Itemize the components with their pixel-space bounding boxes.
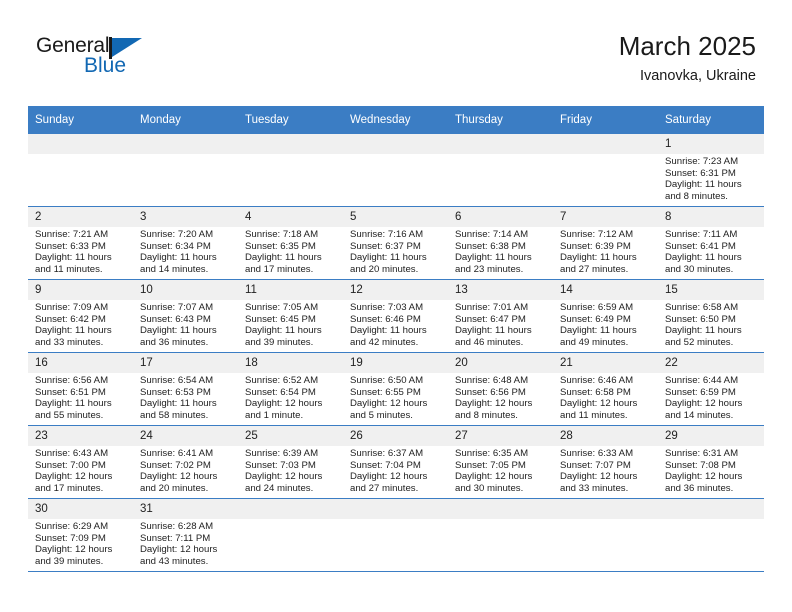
day-sunset-text: Sunset: 7:07 PM xyxy=(560,460,654,472)
day-details: Sunrise: 7:09 AMSunset: 6:42 PMDaylight:… xyxy=(28,300,133,348)
day-number: 13 xyxy=(448,280,553,300)
calendar-day-cell[interactable]: 2Sunrise: 7:21 AMSunset: 6:33 PMDaylight… xyxy=(28,207,133,280)
day-sunrise-text: Sunrise: 7:05 AM xyxy=(245,302,339,314)
weekday-header-tuesday: Tuesday xyxy=(238,106,343,134)
calendar-day-cell[interactable]: 25Sunrise: 6:39 AMSunset: 7:03 PMDayligh… xyxy=(238,426,343,499)
day-details: Sunrise: 6:37 AMSunset: 7:04 PMDaylight:… xyxy=(343,446,448,494)
day-details: Sunrise: 6:35 AMSunset: 7:05 PMDaylight:… xyxy=(448,446,553,494)
day-sunrise-text: Sunrise: 7:20 AM xyxy=(140,229,234,241)
day-number xyxy=(238,134,343,154)
day-details: Sunrise: 6:28 AMSunset: 7:11 PMDaylight:… xyxy=(133,519,238,567)
calendar-cell-inner: 15Sunrise: 6:58 AMSunset: 6:50 PMDayligh… xyxy=(658,280,764,352)
day-daylight-line-text: Daylight: 12 hours xyxy=(455,398,549,410)
day-sunset-text: Sunset: 7:00 PM xyxy=(35,460,129,472)
calendar-day-cell[interactable]: 13Sunrise: 7:01 AMSunset: 6:47 PMDayligh… xyxy=(448,280,553,353)
day-sunrise-text: Sunrise: 6:33 AM xyxy=(560,448,654,460)
calendar-day-cell[interactable]: 21Sunrise: 6:46 AMSunset: 6:58 PMDayligh… xyxy=(553,353,658,426)
day-sunrise-text: Sunrise: 6:39 AM xyxy=(245,448,339,460)
day-number: 28 xyxy=(553,426,658,446)
day-details: Sunrise: 6:56 AMSunset: 6:51 PMDaylight:… xyxy=(28,373,133,421)
day-number: 16 xyxy=(28,353,133,373)
day-sunset-text: Sunset: 7:11 PM xyxy=(140,533,234,545)
day-sunrise-text: Sunrise: 6:43 AM xyxy=(35,448,129,460)
weekday-header-sunday: Sunday xyxy=(28,106,133,134)
calendar-cell-inner: 12Sunrise: 7:03 AMSunset: 6:46 PMDayligh… xyxy=(343,280,448,352)
day-daylight-line-text: Daylight: 12 hours xyxy=(560,471,654,483)
day-daylight-line-text: Daylight: 11 hours xyxy=(350,252,444,264)
calendar-cell-inner: 4Sunrise: 7:18 AMSunset: 6:35 PMDaylight… xyxy=(238,207,343,279)
day-number: 27 xyxy=(448,426,553,446)
calendar-cell-inner: 19Sunrise: 6:50 AMSunset: 6:55 PMDayligh… xyxy=(343,353,448,425)
day-number xyxy=(448,134,553,154)
day-sunset-text: Sunset: 7:02 PM xyxy=(140,460,234,472)
day-number: 26 xyxy=(343,426,448,446)
day-number: 5 xyxy=(343,207,448,227)
calendar-day-cell[interactable]: 19Sunrise: 6:50 AMSunset: 6:55 PMDayligh… xyxy=(343,353,448,426)
day-sunset-text: Sunset: 7:03 PM xyxy=(245,460,339,472)
day-sunset-text: Sunset: 6:35 PM xyxy=(245,241,339,253)
day-sunset-text: Sunset: 6:31 PM xyxy=(665,168,760,180)
day-daylight-line-text: Daylight: 11 hours xyxy=(560,252,654,264)
day-daylight-line-text: and 17 minutes. xyxy=(35,483,129,495)
calendar-day-cell[interactable]: 3Sunrise: 7:20 AMSunset: 6:34 PMDaylight… xyxy=(133,207,238,280)
calendar-day-cell[interactable]: 14Sunrise: 6:59 AMSunset: 6:49 PMDayligh… xyxy=(553,280,658,353)
day-sunrise-text: Sunrise: 7:18 AM xyxy=(245,229,339,241)
calendar-table: Sunday Monday Tuesday Wednesday Thursday… xyxy=(28,106,764,572)
day-daylight-line-text: and 27 minutes. xyxy=(350,483,444,495)
weekday-header-thursday: Thursday xyxy=(448,106,553,134)
day-daylight-line-text: and 43 minutes. xyxy=(140,556,234,568)
day-sunset-text: Sunset: 6:38 PM xyxy=(455,241,549,253)
day-sunrise-text: Sunrise: 7:12 AM xyxy=(560,229,654,241)
calendar-cell-inner: 16Sunrise: 6:56 AMSunset: 6:51 PMDayligh… xyxy=(28,353,133,425)
day-details: Sunrise: 6:41 AMSunset: 7:02 PMDaylight:… xyxy=(133,446,238,494)
day-details: Sunrise: 6:43 AMSunset: 7:00 PMDaylight:… xyxy=(28,446,133,494)
day-daylight-line-text: and 8 minutes. xyxy=(455,410,549,422)
calendar-cell-empty xyxy=(133,134,238,207)
day-daylight-line-text: Daylight: 11 hours xyxy=(665,179,760,191)
calendar-cell-inner: 10Sunrise: 7:07 AMSunset: 6:43 PMDayligh… xyxy=(133,280,238,352)
page-subtitle: Ivanovka, Ukraine xyxy=(619,65,756,87)
calendar-day-cell[interactable]: 9Sunrise: 7:09 AMSunset: 6:42 PMDaylight… xyxy=(28,280,133,353)
day-daylight-line-text: and 58 minutes. xyxy=(140,410,234,422)
calendar-cell-empty xyxy=(343,134,448,207)
day-sunrise-text: Sunrise: 7:07 AM xyxy=(140,302,234,314)
calendar-cell-inner xyxy=(238,499,343,571)
calendar-cell-inner: 30Sunrise: 6:29 AMSunset: 7:09 PMDayligh… xyxy=(28,499,133,571)
day-daylight-line-text: Daylight: 12 hours xyxy=(140,544,234,556)
day-daylight-line-text: and 46 minutes. xyxy=(455,337,549,349)
calendar-cell-empty xyxy=(238,134,343,207)
day-number: 4 xyxy=(238,207,343,227)
calendar-cell-inner: 1Sunrise: 7:23 AMSunset: 6:31 PMDaylight… xyxy=(658,134,764,206)
day-details: Sunrise: 6:46 AMSunset: 6:58 PMDaylight:… xyxy=(553,373,658,421)
calendar-cell-inner: 31Sunrise: 6:28 AMSunset: 7:11 PMDayligh… xyxy=(133,499,238,571)
day-details: Sunrise: 6:39 AMSunset: 7:03 PMDaylight:… xyxy=(238,446,343,494)
calendar-cell-empty xyxy=(448,134,553,207)
day-daylight-line-text: Daylight: 12 hours xyxy=(560,398,654,410)
calendar-cell-inner: 25Sunrise: 6:39 AMSunset: 7:03 PMDayligh… xyxy=(238,426,343,498)
logo-text-blue: Blue xyxy=(84,54,126,78)
day-number: 29 xyxy=(658,426,764,446)
day-number: 1 xyxy=(658,134,764,154)
calendar-week-row: 30Sunrise: 6:29 AMSunset: 7:09 PMDayligh… xyxy=(28,499,764,572)
calendar-cell-inner: 28Sunrise: 6:33 AMSunset: 7:07 PMDayligh… xyxy=(553,426,658,498)
calendar-day-cell[interactable]: 6Sunrise: 7:14 AMSunset: 6:38 PMDaylight… xyxy=(448,207,553,280)
day-sunset-text: Sunset: 6:37 PM xyxy=(350,241,444,253)
day-sunrise-text: Sunrise: 6:46 AM xyxy=(560,375,654,387)
calendar-day-cell[interactable]: 23Sunrise: 6:43 AMSunset: 7:00 PMDayligh… xyxy=(28,426,133,499)
day-daylight-line-text: and 52 minutes. xyxy=(665,337,760,349)
day-sunrise-text: Sunrise: 6:29 AM xyxy=(35,521,129,533)
calendar-week-row: 9Sunrise: 7:09 AMSunset: 6:42 PMDaylight… xyxy=(28,280,764,353)
day-sunset-text: Sunset: 6:50 PM xyxy=(665,314,760,326)
day-sunrise-text: Sunrise: 6:52 AM xyxy=(245,375,339,387)
calendar-day-cell[interactable]: 8Sunrise: 7:11 AMSunset: 6:41 PMDaylight… xyxy=(658,207,764,280)
day-daylight-line-text: Daylight: 12 hours xyxy=(245,471,339,483)
day-number xyxy=(343,134,448,154)
day-daylight-line-text: and 27 minutes. xyxy=(560,264,654,276)
day-daylight-line-text: and 36 minutes. xyxy=(140,337,234,349)
day-daylight-line-text: and 20 minutes. xyxy=(140,483,234,495)
calendar-day-cell[interactable]: 12Sunrise: 7:03 AMSunset: 6:46 PMDayligh… xyxy=(343,280,448,353)
day-daylight-line-text: and 8 minutes. xyxy=(665,191,760,203)
day-sunset-text: Sunset: 6:59 PM xyxy=(665,387,760,399)
day-number: 22 xyxy=(658,353,764,373)
calendar-cell-inner: 20Sunrise: 6:48 AMSunset: 6:56 PMDayligh… xyxy=(448,353,553,425)
calendar-cell-empty xyxy=(553,134,658,207)
calendar-cell-empty xyxy=(553,499,658,572)
calendar-cell-empty xyxy=(448,499,553,572)
calendar-cell-inner: 14Sunrise: 6:59 AMSunset: 6:49 PMDayligh… xyxy=(553,280,658,352)
day-details: Sunrise: 6:50 AMSunset: 6:55 PMDaylight:… xyxy=(343,373,448,421)
day-daylight-line-text: Daylight: 11 hours xyxy=(140,252,234,264)
day-sunset-text: Sunset: 6:45 PM xyxy=(245,314,339,326)
weekday-header-monday: Monday xyxy=(133,106,238,134)
general-blue-logo[interactable]: General Blue xyxy=(36,34,236,90)
day-daylight-line-text: and 33 minutes. xyxy=(35,337,129,349)
day-daylight-line-text: Daylight: 11 hours xyxy=(35,252,129,264)
day-sunrise-text: Sunrise: 7:09 AM xyxy=(35,302,129,314)
day-daylight-line-text: and 36 minutes. xyxy=(665,483,760,495)
day-sunset-text: Sunset: 6:54 PM xyxy=(245,387,339,399)
calendar-week-row: 23Sunrise: 6:43 AMSunset: 7:00 PMDayligh… xyxy=(28,426,764,499)
day-daylight-line-text: and 1 minute. xyxy=(245,410,339,422)
day-daylight-line-text: Daylight: 12 hours xyxy=(665,471,760,483)
day-number: 7 xyxy=(553,207,658,227)
calendar-cell-inner xyxy=(133,134,238,206)
day-number: 25 xyxy=(238,426,343,446)
day-sunrise-text: Sunrise: 7:16 AM xyxy=(350,229,444,241)
day-sunset-text: Sunset: 6:49 PM xyxy=(560,314,654,326)
calendar-cell-inner: 9Sunrise: 7:09 AMSunset: 6:42 PMDaylight… xyxy=(28,280,133,352)
day-number: 3 xyxy=(133,207,238,227)
day-sunset-text: Sunset: 6:43 PM xyxy=(140,314,234,326)
day-details: Sunrise: 6:33 AMSunset: 7:07 PMDaylight:… xyxy=(553,446,658,494)
day-sunset-text: Sunset: 6:46 PM xyxy=(350,314,444,326)
day-daylight-line-text: and 39 minutes. xyxy=(35,556,129,568)
day-details: Sunrise: 6:48 AMSunset: 6:56 PMDaylight:… xyxy=(448,373,553,421)
day-details: Sunrise: 7:18 AMSunset: 6:35 PMDaylight:… xyxy=(238,227,343,275)
calendar-cell-inner: 2Sunrise: 7:21 AMSunset: 6:33 PMDaylight… xyxy=(28,207,133,279)
calendar-cell-inner: 21Sunrise: 6:46 AMSunset: 6:58 PMDayligh… xyxy=(553,353,658,425)
day-daylight-line-text: and 14 minutes. xyxy=(665,410,760,422)
day-daylight-line-text: and 33 minutes. xyxy=(560,483,654,495)
calendar-cell-empty xyxy=(658,499,764,572)
day-sunset-text: Sunset: 6:34 PM xyxy=(140,241,234,253)
day-sunrise-text: Sunrise: 6:37 AM xyxy=(350,448,444,460)
day-sunrise-text: Sunrise: 6:41 AM xyxy=(140,448,234,460)
day-sunset-text: Sunset: 6:33 PM xyxy=(35,241,129,253)
calendar-day-cell[interactable]: 27Sunrise: 6:35 AMSunset: 7:05 PMDayligh… xyxy=(448,426,553,499)
day-daylight-line-text: Daylight: 11 hours xyxy=(455,252,549,264)
day-number xyxy=(28,134,133,154)
day-daylight-line-text: and 24 minutes. xyxy=(245,483,339,495)
day-number: 17 xyxy=(133,353,238,373)
calendar-day-cell[interactable]: 28Sunrise: 6:33 AMSunset: 7:07 PMDayligh… xyxy=(553,426,658,499)
day-sunset-text: Sunset: 6:58 PM xyxy=(560,387,654,399)
day-daylight-line-text: Daylight: 12 hours xyxy=(245,398,339,410)
day-number xyxy=(343,499,448,519)
day-daylight-line-text: and 11 minutes. xyxy=(35,264,129,276)
day-daylight-line-text: and 17 minutes. xyxy=(245,264,339,276)
calendar-day-cell[interactable]: 29Sunrise: 6:31 AMSunset: 7:08 PMDayligh… xyxy=(658,426,764,499)
day-number: 18 xyxy=(238,353,343,373)
day-daylight-line-text: Daylight: 12 hours xyxy=(35,544,129,556)
day-sunset-text: Sunset: 6:47 PM xyxy=(455,314,549,326)
calendar-day-cell[interactable]: 17Sunrise: 6:54 AMSunset: 6:53 PMDayligh… xyxy=(133,353,238,426)
day-number: 6 xyxy=(448,207,553,227)
weekday-header-friday: Friday xyxy=(553,106,658,134)
day-number: 14 xyxy=(553,280,658,300)
day-sunrise-text: Sunrise: 6:48 AM xyxy=(455,375,549,387)
day-details: Sunrise: 7:03 AMSunset: 6:46 PMDaylight:… xyxy=(343,300,448,348)
calendar-cell-inner: 22Sunrise: 6:44 AMSunset: 6:59 PMDayligh… xyxy=(658,353,764,425)
calendar-cell-empty xyxy=(28,134,133,207)
day-daylight-line-text: and 49 minutes. xyxy=(560,337,654,349)
calendar-day-cell[interactable]: 24Sunrise: 6:41 AMSunset: 7:02 PMDayligh… xyxy=(133,426,238,499)
calendar-cell-inner: 11Sunrise: 7:05 AMSunset: 6:45 PMDayligh… xyxy=(238,280,343,352)
day-number: 10 xyxy=(133,280,238,300)
day-sunset-text: Sunset: 6:53 PM xyxy=(140,387,234,399)
day-sunrise-text: Sunrise: 7:11 AM xyxy=(665,229,760,241)
day-sunrise-text: Sunrise: 6:28 AM xyxy=(140,521,234,533)
weekday-header-wednesday: Wednesday xyxy=(343,106,448,134)
day-sunrise-text: Sunrise: 7:03 AM xyxy=(350,302,444,314)
day-number: 21 xyxy=(553,353,658,373)
calendar-week-row: 2Sunrise: 7:21 AMSunset: 6:33 PMDaylight… xyxy=(28,207,764,280)
day-daylight-line-text: Daylight: 11 hours xyxy=(140,398,234,410)
day-details: Sunrise: 6:54 AMSunset: 6:53 PMDaylight:… xyxy=(133,373,238,421)
day-daylight-line-text: Daylight: 11 hours xyxy=(35,398,129,410)
calendar-cell-inner xyxy=(658,499,764,571)
day-daylight-line-text: and 42 minutes. xyxy=(350,337,444,349)
calendar-week-row: 16Sunrise: 6:56 AMSunset: 6:51 PMDayligh… xyxy=(28,353,764,426)
day-sunrise-text: Sunrise: 6:58 AM xyxy=(665,302,760,314)
day-sunrise-text: Sunrise: 6:56 AM xyxy=(35,375,129,387)
day-details: Sunrise: 7:07 AMSunset: 6:43 PMDaylight:… xyxy=(133,300,238,348)
day-number: 9 xyxy=(28,280,133,300)
calendar-day-cell[interactable]: 31Sunrise: 6:28 AMSunset: 7:11 PMDayligh… xyxy=(133,499,238,572)
calendar-cell-inner xyxy=(343,499,448,571)
page-header: General Blue March 2025 Ivanovka, Ukrain… xyxy=(36,30,756,98)
day-daylight-line-text: and 20 minutes. xyxy=(350,264,444,276)
day-daylight-line-text: Daylight: 11 hours xyxy=(455,325,549,337)
day-sunset-text: Sunset: 7:04 PM xyxy=(350,460,444,472)
day-daylight-line-text: Daylight: 12 hours xyxy=(665,398,760,410)
day-details: Sunrise: 6:31 AMSunset: 7:08 PMDaylight:… xyxy=(658,446,764,494)
day-daylight-line-text: Daylight: 12 hours xyxy=(350,471,444,483)
day-daylight-line-text: and 30 minutes. xyxy=(455,483,549,495)
day-details: Sunrise: 7:16 AMSunset: 6:37 PMDaylight:… xyxy=(343,227,448,275)
day-number xyxy=(553,499,658,519)
day-details: Sunrise: 6:29 AMSunset: 7:09 PMDaylight:… xyxy=(28,519,133,567)
day-daylight-line-text: and 55 minutes. xyxy=(35,410,129,422)
calendar-cell-inner xyxy=(448,499,553,571)
calendar-cell-inner: 7Sunrise: 7:12 AMSunset: 6:39 PMDaylight… xyxy=(553,207,658,279)
day-sunrise-text: Sunrise: 6:31 AM xyxy=(665,448,760,460)
day-number xyxy=(448,499,553,519)
day-number: 12 xyxy=(343,280,448,300)
day-details: Sunrise: 6:52 AMSunset: 6:54 PMDaylight:… xyxy=(238,373,343,421)
calendar-day-cell[interactable]: 22Sunrise: 6:44 AMSunset: 6:59 PMDayligh… xyxy=(658,353,764,426)
day-number: 31 xyxy=(133,499,238,519)
title-block: March 2025 Ivanovka, Ukraine xyxy=(619,30,756,87)
calendar-cell-inner: 23Sunrise: 6:43 AMSunset: 7:00 PMDayligh… xyxy=(28,426,133,498)
calendar-cell-inner: 24Sunrise: 6:41 AMSunset: 7:02 PMDayligh… xyxy=(133,426,238,498)
day-sunrise-text: Sunrise: 6:44 AM xyxy=(665,375,760,387)
day-details: Sunrise: 7:11 AMSunset: 6:41 PMDaylight:… xyxy=(658,227,764,275)
day-details: Sunrise: 7:23 AMSunset: 6:31 PMDaylight:… xyxy=(658,154,764,202)
day-details: Sunrise: 7:05 AMSunset: 6:45 PMDaylight:… xyxy=(238,300,343,348)
day-details: Sunrise: 7:20 AMSunset: 6:34 PMDaylight:… xyxy=(133,227,238,275)
weekday-header-saturday: Saturday xyxy=(658,106,764,134)
day-number: 11 xyxy=(238,280,343,300)
day-details: Sunrise: 7:14 AMSunset: 6:38 PMDaylight:… xyxy=(448,227,553,275)
calendar-day-cell[interactable]: 1Sunrise: 7:23 AMSunset: 6:31 PMDaylight… xyxy=(658,134,764,207)
day-number xyxy=(133,134,238,154)
day-sunset-text: Sunset: 6:41 PM xyxy=(665,241,760,253)
day-sunrise-text: Sunrise: 6:50 AM xyxy=(350,375,444,387)
calendar-cell-inner xyxy=(343,134,448,206)
day-daylight-line-text: and 30 minutes. xyxy=(665,264,760,276)
calendar-day-cell[interactable]: 7Sunrise: 7:12 AMSunset: 6:39 PMDaylight… xyxy=(553,207,658,280)
day-details: Sunrise: 7:21 AMSunset: 6:33 PMDaylight:… xyxy=(28,227,133,275)
calendar-day-cell[interactable]: 20Sunrise: 6:48 AMSunset: 6:56 PMDayligh… xyxy=(448,353,553,426)
day-details: Sunrise: 6:58 AMSunset: 6:50 PMDaylight:… xyxy=(658,300,764,348)
calendar-cell-empty xyxy=(343,499,448,572)
day-number xyxy=(238,499,343,519)
day-number: 23 xyxy=(28,426,133,446)
day-daylight-line-text: Daylight: 12 hours xyxy=(140,471,234,483)
day-number: 19 xyxy=(343,353,448,373)
day-sunset-text: Sunset: 6:39 PM xyxy=(560,241,654,253)
day-number xyxy=(658,499,764,519)
day-daylight-line-text: Daylight: 12 hours xyxy=(35,471,129,483)
day-daylight-line-text: Daylight: 11 hours xyxy=(560,325,654,337)
day-number: 30 xyxy=(28,499,133,519)
day-sunrise-text: Sunrise: 7:21 AM xyxy=(35,229,129,241)
day-sunrise-text: Sunrise: 6:59 AM xyxy=(560,302,654,314)
day-daylight-line-text: and 39 minutes. xyxy=(245,337,339,349)
day-daylight-line-text: Daylight: 12 hours xyxy=(350,398,444,410)
calendar-week-row: 1Sunrise: 7:23 AMSunset: 6:31 PMDaylight… xyxy=(28,134,764,207)
calendar-day-cell[interactable]: 18Sunrise: 6:52 AMSunset: 6:54 PMDayligh… xyxy=(238,353,343,426)
day-sunset-text: Sunset: 7:09 PM xyxy=(35,533,129,545)
day-sunrise-text: Sunrise: 6:35 AM xyxy=(455,448,549,460)
calendar-cell-inner: 3Sunrise: 7:20 AMSunset: 6:34 PMDaylight… xyxy=(133,207,238,279)
day-daylight-line-text: Daylight: 11 hours xyxy=(245,325,339,337)
day-daylight-line-text: Daylight: 11 hours xyxy=(350,325,444,337)
day-sunset-text: Sunset: 6:56 PM xyxy=(455,387,549,399)
day-daylight-line-text: Daylight: 11 hours xyxy=(245,252,339,264)
calendar-day-cell[interactable]: 26Sunrise: 6:37 AMSunset: 7:04 PMDayligh… xyxy=(343,426,448,499)
weekday-header-row: Sunday Monday Tuesday Wednesday Thursday… xyxy=(28,106,764,134)
day-sunrise-text: Sunrise: 7:23 AM xyxy=(665,156,760,168)
page-title: March 2025 xyxy=(619,30,756,62)
calendar-page: General Blue March 2025 Ivanovka, Ukrain… xyxy=(0,0,792,612)
calendar-cell-inner xyxy=(28,134,133,206)
calendar-cell-inner: 26Sunrise: 6:37 AMSunset: 7:04 PMDayligh… xyxy=(343,426,448,498)
day-details: Sunrise: 7:01 AMSunset: 6:47 PMDaylight:… xyxy=(448,300,553,348)
calendar-cell-inner xyxy=(238,134,343,206)
calendar-day-cell[interactable]: 11Sunrise: 7:05 AMSunset: 6:45 PMDayligh… xyxy=(238,280,343,353)
calendar-cell-inner: 6Sunrise: 7:14 AMSunset: 6:38 PMDaylight… xyxy=(448,207,553,279)
day-daylight-line-text: and 11 minutes. xyxy=(560,410,654,422)
calendar-cell-inner xyxy=(553,499,658,571)
calendar-day-cell[interactable]: 5Sunrise: 7:16 AMSunset: 6:37 PMDaylight… xyxy=(343,207,448,280)
calendar-cell-inner: 5Sunrise: 7:16 AMSunset: 6:37 PMDaylight… xyxy=(343,207,448,279)
day-daylight-line-text: Daylight: 11 hours xyxy=(665,325,760,337)
day-sunset-text: Sunset: 6:51 PM xyxy=(35,387,129,399)
day-details: Sunrise: 6:59 AMSunset: 6:49 PMDaylight:… xyxy=(553,300,658,348)
calendar-day-cell[interactable]: 4Sunrise: 7:18 AMSunset: 6:35 PMDaylight… xyxy=(238,207,343,280)
day-sunset-text: Sunset: 7:05 PM xyxy=(455,460,549,472)
calendar-cell-inner: 18Sunrise: 6:52 AMSunset: 6:54 PMDayligh… xyxy=(238,353,343,425)
day-daylight-line-text: and 5 minutes. xyxy=(350,410,444,422)
day-daylight-line-text: and 14 minutes. xyxy=(140,264,234,276)
day-number: 15 xyxy=(658,280,764,300)
calendar-cell-inner: 8Sunrise: 7:11 AMSunset: 6:41 PMDaylight… xyxy=(658,207,764,279)
day-sunrise-text: Sunrise: 7:14 AM xyxy=(455,229,549,241)
calendar-day-cell[interactable]: 10Sunrise: 7:07 AMSunset: 6:43 PMDayligh… xyxy=(133,280,238,353)
day-daylight-line-text: Daylight: 11 hours xyxy=(35,325,129,337)
day-number: 20 xyxy=(448,353,553,373)
day-number: 24 xyxy=(133,426,238,446)
calendar-day-cell[interactable]: 16Sunrise: 6:56 AMSunset: 6:51 PMDayligh… xyxy=(28,353,133,426)
day-daylight-line-text: Daylight: 12 hours xyxy=(455,471,549,483)
day-daylight-line-text: Daylight: 11 hours xyxy=(140,325,234,337)
calendar-cell-empty xyxy=(238,499,343,572)
day-number: 8 xyxy=(658,207,764,227)
calendar-cell-inner xyxy=(553,134,658,206)
day-daylight-line-text: and 23 minutes. xyxy=(455,264,549,276)
calendar-cell-inner: 17Sunrise: 6:54 AMSunset: 6:53 PMDayligh… xyxy=(133,353,238,425)
day-details: Sunrise: 6:44 AMSunset: 6:59 PMDaylight:… xyxy=(658,373,764,421)
day-number xyxy=(553,134,658,154)
day-sunset-text: Sunset: 6:55 PM xyxy=(350,387,444,399)
calendar-cell-inner xyxy=(448,134,553,206)
calendar-day-cell[interactable]: 30Sunrise: 6:29 AMSunset: 7:09 PMDayligh… xyxy=(28,499,133,572)
day-daylight-line-text: Daylight: 11 hours xyxy=(665,252,760,264)
day-sunrise-text: Sunrise: 7:01 AM xyxy=(455,302,549,314)
day-details: Sunrise: 7:12 AMSunset: 6:39 PMDaylight:… xyxy=(553,227,658,275)
calendar-cell-inner: 13Sunrise: 7:01 AMSunset: 6:47 PMDayligh… xyxy=(448,280,553,352)
day-sunset-text: Sunset: 7:08 PM xyxy=(665,460,760,472)
calendar-body: 1Sunrise: 7:23 AMSunset: 6:31 PMDaylight… xyxy=(28,134,764,572)
calendar-cell-inner: 29Sunrise: 6:31 AMSunset: 7:08 PMDayligh… xyxy=(658,426,764,498)
calendar-day-cell[interactable]: 15Sunrise: 6:58 AMSunset: 6:50 PMDayligh… xyxy=(658,280,764,353)
